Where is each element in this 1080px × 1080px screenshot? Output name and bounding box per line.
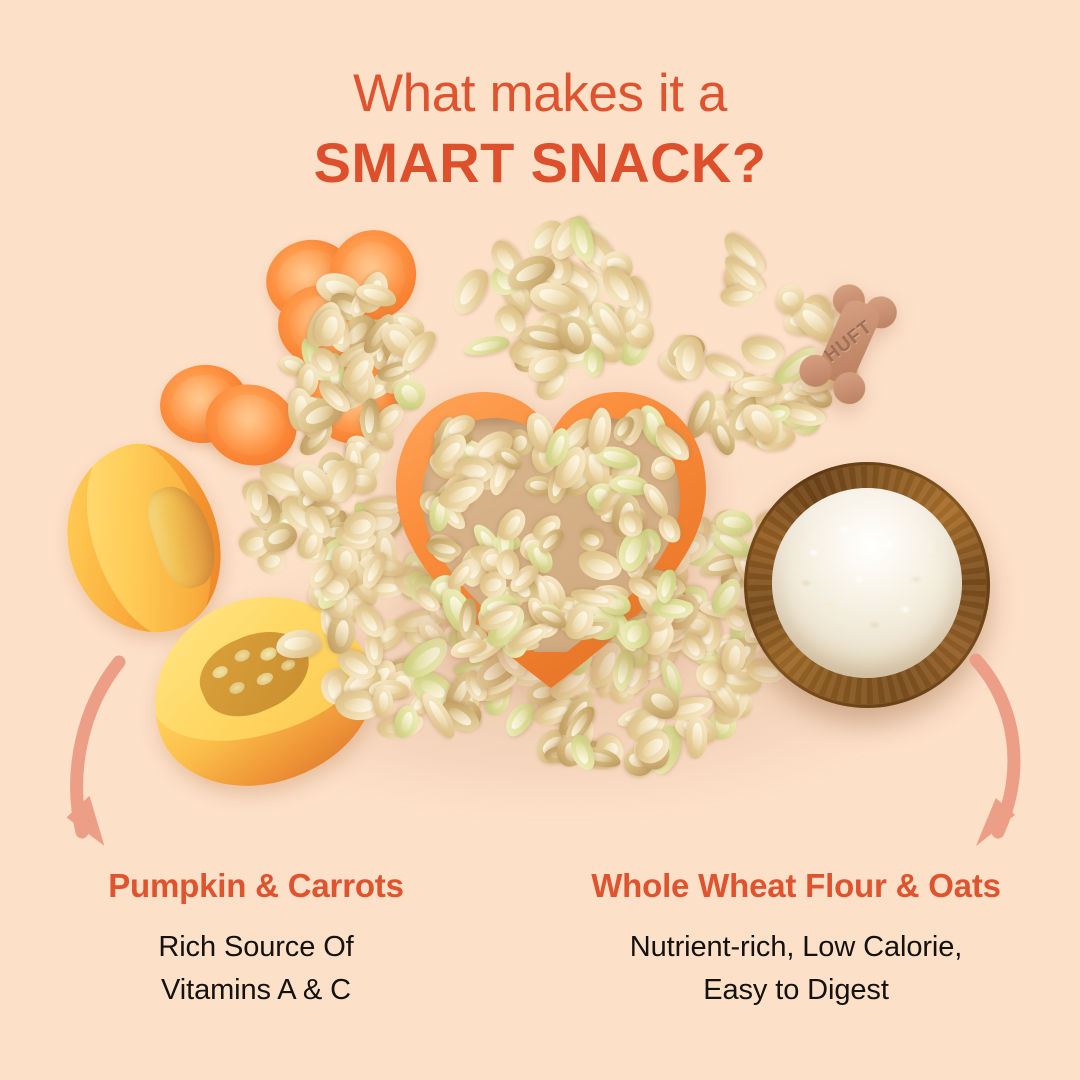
- caption-subtitle: Rich Source Of Vitamins A & C: [14, 926, 498, 1012]
- caption-title: Whole Wheat Flour & Oats: [526, 866, 1066, 906]
- caption-row: Pumpkin & Carrots Rich Source Of Vitamin…: [0, 866, 1080, 1012]
- heart-bowl: [396, 392, 706, 692]
- page-title: What makes it a SMART SNACK?: [0, 64, 1080, 196]
- curved-arrow-left-icon: [62, 646, 222, 872]
- oat-flake: [446, 263, 496, 319]
- oat-flake: [576, 525, 607, 555]
- caption-subtitle-line-1: Nutrient-rich, Low Calorie,: [526, 926, 1066, 969]
- caption-subtitle-line-2: Vitamins A & C: [14, 969, 498, 1012]
- oat-flake: [463, 333, 512, 359]
- oat-flake: [373, 685, 393, 717]
- caption-subtitle-line-1: Rich Source Of: [14, 926, 498, 969]
- caption-block-flour-oats: Whole Wheat Flour & Oats Nutrient-rich, …: [512, 866, 1080, 1012]
- heart-bowl-oats: [426, 422, 676, 648]
- headline-line-2: SMART SNACK?: [0, 130, 1080, 196]
- promo-graphic-canvas: What makes it a SMART SNACK?: [0, 0, 1080, 1080]
- caption-subtitle: Nutrient-rich, Low Calorie, Easy to Dige…: [526, 926, 1066, 1012]
- curved-arrow-right-icon: [920, 646, 1080, 872]
- headline-line-1: What makes it a: [0, 64, 1080, 124]
- oat-flake: [424, 536, 463, 562]
- oat-flake: [583, 347, 603, 377]
- caption-block-pumpkin-carrots: Pumpkin & Carrots Rich Source Of Vitamin…: [0, 866, 512, 1012]
- caption-subtitle-line-2: Easy to Digest: [526, 969, 1066, 1012]
- caption-title: Pumpkin & Carrots: [14, 866, 498, 906]
